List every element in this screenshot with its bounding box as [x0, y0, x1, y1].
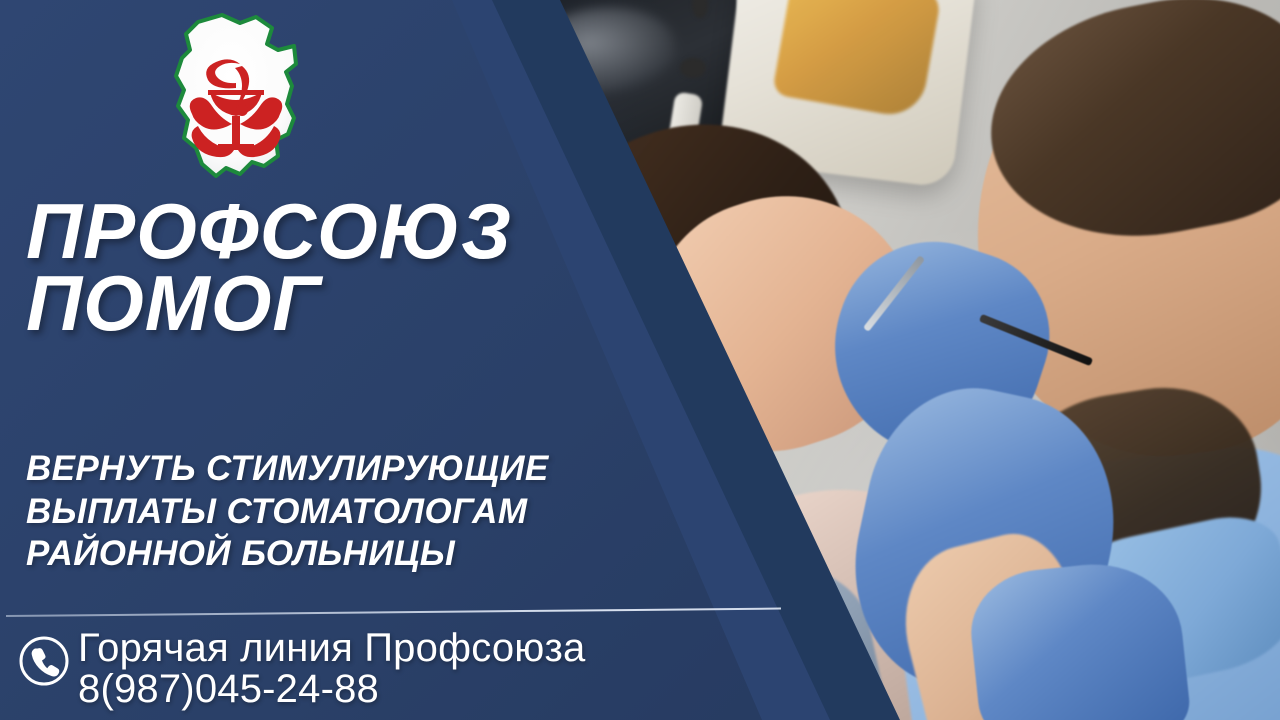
- subtitle: ВЕРНУТЬ СТИМУЛИРУЮЩИЕ ВЫПЛАТЫ СТОМАТОЛОГ…: [26, 448, 706, 576]
- phone-circle-icon: [18, 635, 70, 687]
- subtitle-line-1: ВЕРНУТЬ СТИМУЛИРУЮЩИЕ: [26, 448, 706, 491]
- page-title: ПРОФСОЮЗ ПОМОГ: [26, 196, 646, 340]
- headline-line-2: ПОМОГ: [26, 268, 646, 340]
- ceiling-bolt-icon: [680, 58, 706, 78]
- hotline-label: Горячая линия Профсоюза: [78, 628, 585, 669]
- subtitle-line-3: РАЙОННОЙ БОЛЬНИЦЫ: [26, 533, 706, 576]
- trade-union-region-map-logo: [168, 6, 304, 192]
- hotline-text: Горячая линия Профсоюза 8(987)045-24-88: [78, 628, 585, 710]
- hotline-phone[interactable]: 8(987)045-24-88: [78, 669, 585, 710]
- hotline-block[interactable]: Горячая линия Профсоюза 8(987)045-24-88: [18, 628, 585, 710]
- poster-canvas: ПРОФСОЮЗ ПОМОГ ВЕРНУТЬ СТИМУЛИРУЮЩИЕ ВЫП…: [0, 0, 1280, 720]
- subtitle-line-2: ВЫПЛАТЫ СТОМАТОЛОГАМ: [26, 491, 706, 534]
- region-map-shape: [176, 15, 296, 176]
